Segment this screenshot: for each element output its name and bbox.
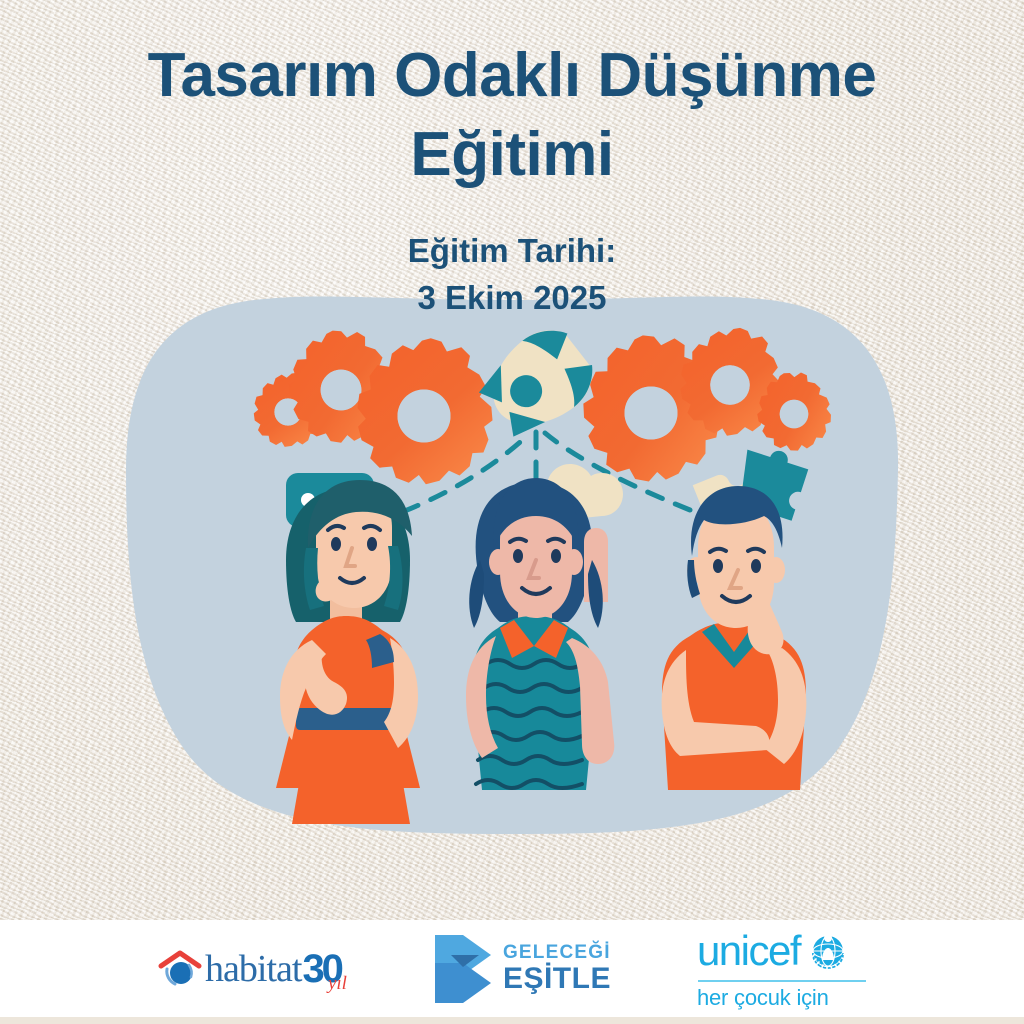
footer-logo-bar: habitat 30 yıl GELECEĞİ EŞİTLE unicef [0, 920, 1024, 1017]
person-left [276, 480, 420, 824]
training-date-block: Eğitim Tarihi: 3 Ekim 2025 [0, 228, 1024, 322]
unicef-emblem-icon [806, 929, 850, 973]
habitat-wordmark: habitat [205, 950, 301, 988]
gelecegi-esitle-logo[interactable]: GELECEĞİ EŞİTLE [433, 933, 611, 1005]
date-label: Eğitim Tarihi: [0, 228, 1024, 275]
date-value: 3 Ekim 2025 [0, 275, 1024, 322]
person-center [466, 478, 614, 790]
unicef-divider-rule [698, 980, 866, 982]
rocket-icon [470, 316, 605, 447]
poster-canvas: Tasarım Odaklı Düşünme Eğitimi Eğitim Ta… [0, 0, 1024, 1024]
unicef-wordmark: unicef [697, 930, 800, 972]
double-chevron-icon [433, 933, 495, 1005]
habitat-anniversary-suffix: yıl [328, 974, 347, 993]
title-line-1: Tasarım Odaklı Düşünme [0, 36, 1024, 115]
gelecegi-esitle-text: GELECEĞİ EŞİTLE [503, 943, 611, 994]
unicef-logo[interactable]: unicef her [697, 929, 866, 1009]
gelecegi-line: GELECEĞİ [503, 943, 611, 962]
unicef-tagline: her çocuk için [697, 987, 829, 1009]
title-line-2: Eğitimi [0, 115, 1024, 194]
esitle-line: EŞİTLE [503, 964, 611, 994]
unicef-wordmark-row: unicef [697, 929, 850, 973]
person-right [662, 486, 807, 790]
bottom-edge-strip [0, 1017, 1024, 1024]
habitat-house-globe-icon [158, 949, 202, 989]
habitat-logo[interactable]: habitat 30 yıl [158, 949, 347, 989]
page-title: Tasarım Odaklı Düşünme Eğitimi [0, 36, 1024, 195]
